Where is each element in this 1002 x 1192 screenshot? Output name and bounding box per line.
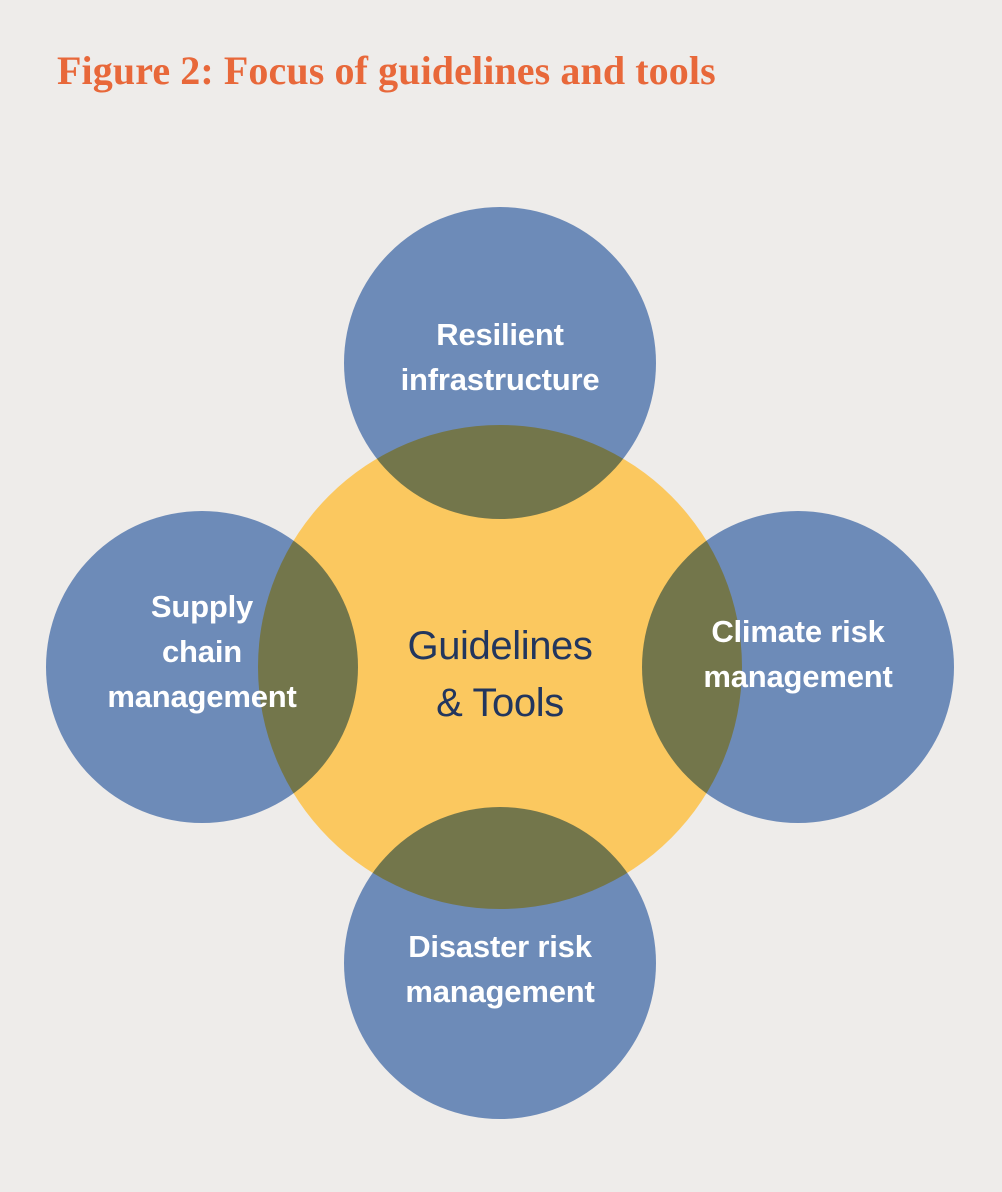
figure-container: Figure 2: Focus of guidelines and tools … [0, 0, 1002, 1192]
petal-circle-disaster-risk-management [344, 807, 656, 1119]
venn-diagram [0, 0, 1002, 1192]
petal-circle-resilient-infrastructure [344, 207, 656, 519]
petal-circle-climate-risk-management [642, 511, 954, 823]
petal-circle-supply-chain-management [46, 511, 358, 823]
